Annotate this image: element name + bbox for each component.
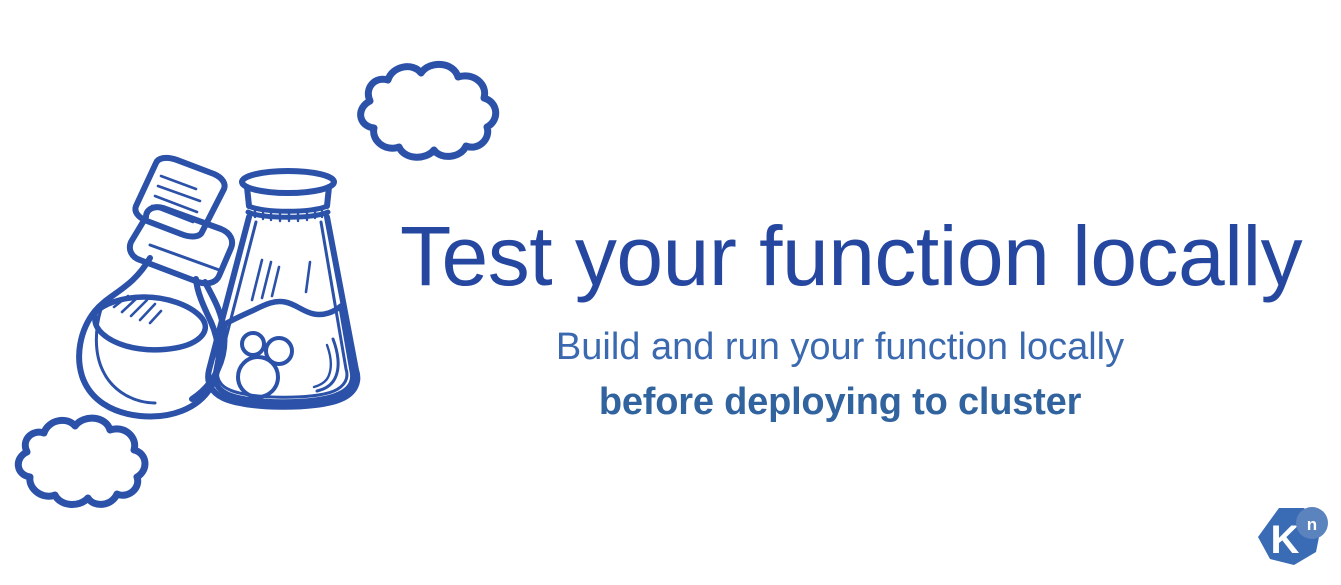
- slide-canvas: Test your function locally Build and run…: [0, 0, 1341, 585]
- subtitle-line-1: Build and run your function locally: [400, 326, 1280, 369]
- round-bottom-flask-icon: [79, 158, 232, 417]
- headline-block: Test your function locally Build and run…: [400, 214, 1280, 423]
- subtitle-line-2: before deploying to cluster: [400, 381, 1280, 424]
- page-title: Test your function locally: [400, 214, 1280, 298]
- knative-n-letter: n: [1307, 515, 1317, 534]
- knative-logo: K n: [1252, 503, 1330, 575]
- cloud-bottom-left-icon: [18, 418, 145, 504]
- knative-k-letter: K: [1271, 518, 1300, 562]
- cloud-top-icon: [361, 64, 496, 157]
- erlenmeyer-flask-icon: [208, 171, 357, 407]
